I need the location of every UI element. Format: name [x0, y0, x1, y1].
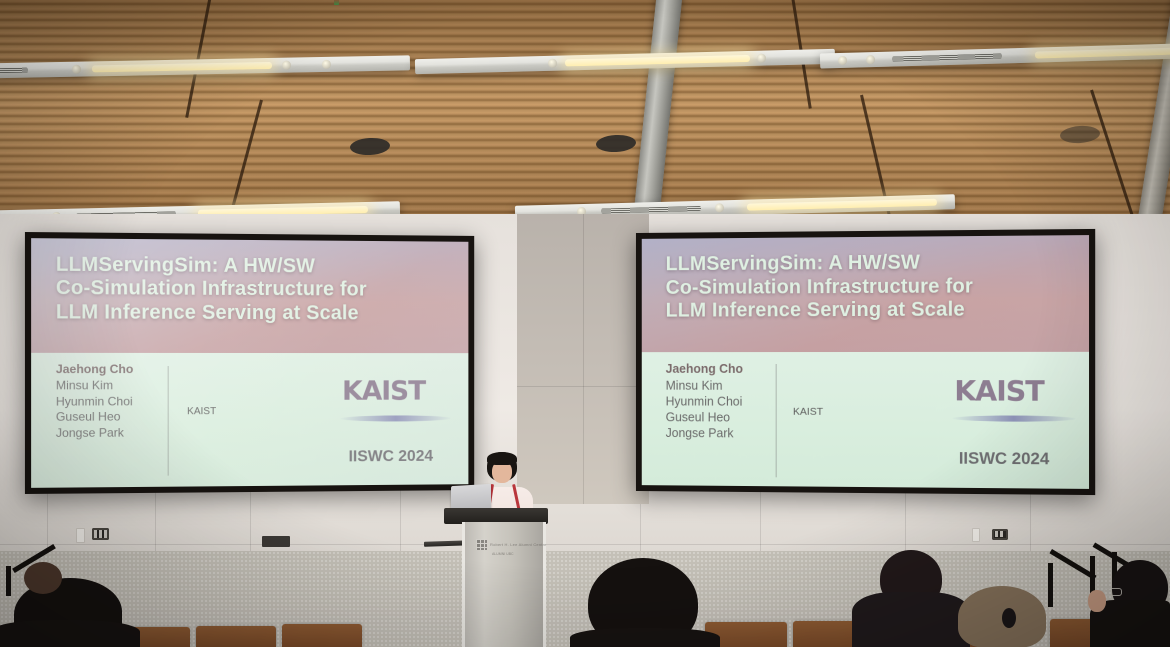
- lectern-logo-text: Robert H. Lee Alumni Centre: [490, 542, 547, 547]
- left-screen[interactable]: LLMServingSim: A HW/SW Co-Simulation Inf…: [25, 232, 474, 494]
- slide-header-right: LLMServingSim: A HW/SW Co-Simulation Inf…: [642, 235, 1089, 352]
- downlight: [72, 65, 81, 74]
- wall-plate[interactable]: [972, 528, 980, 542]
- venue-label-right: IISWC 2024: [959, 450, 1050, 470]
- kaist-logo-swoosh-right: [952, 416, 1075, 423]
- chair: [196, 626, 276, 647]
- ubc-crest-icon: [476, 539, 487, 550]
- downlight: [548, 59, 557, 68]
- affiliation-right: KAIST: [793, 406, 823, 418]
- air-grille: [601, 206, 701, 214]
- slide-body-right: Jaehong Cho Minsu Kim Hyunmin Choi Guseu…: [642, 352, 1089, 489]
- lectern-logo-sub: ALUMNI UBC: [492, 552, 514, 556]
- kaist-logo-right: KAIST: [954, 374, 1044, 407]
- author: Guseul Heo: [666, 410, 743, 426]
- title-line-2: Co-Simulation Infrastructure for: [56, 277, 452, 303]
- ceiling-indicator: [334, 0, 339, 5]
- left-screen-surface: LLMServingSim: A HW/SW Co-Simulation Inf…: [31, 238, 468, 488]
- light-glow: [1035, 47, 1170, 59]
- author: Hyunmin Choi: [666, 394, 743, 410]
- author-list-left: Jaehong Cho Minsu Kim Hyunmin Choi Guseu…: [56, 362, 134, 441]
- title-line-3: LLM Inference Serving at Scale: [666, 298, 1071, 323]
- light-switch-panel[interactable]: [992, 529, 1008, 540]
- author: Jongse Park: [56, 425, 134, 441]
- downlight: [322, 60, 331, 69]
- wall-plate[interactable]: [76, 528, 85, 543]
- wooden-slat-ceiling: [0, 0, 1170, 240]
- switch-toggle: [1000, 531, 1003, 537]
- stair-handrail-post: [1048, 563, 1053, 607]
- eyeglasses-icon: [1104, 588, 1122, 596]
- slide-title-left: LLMServingSim: A HW/SW Co-Simulation Inf…: [56, 253, 452, 326]
- wall-plate: [262, 536, 290, 547]
- switch-toggle: [104, 530, 107, 538]
- title-line-3: LLM Inference Serving at Scale: [56, 301, 452, 326]
- center-wall-seam: [583, 214, 584, 504]
- downlight: [757, 54, 766, 63]
- author: Guseul Heo: [56, 410, 134, 426]
- right-screen[interactable]: LLMServingSim: A HW/SW Co-Simulation Inf…: [636, 229, 1095, 495]
- author: Jongse Park: [666, 426, 743, 442]
- slide-title-right: LLMServingSim: A HW/SW Co-Simulation Inf…: [666, 250, 1071, 323]
- chair: [282, 624, 362, 647]
- downlight: [838, 56, 847, 65]
- audience-shoulders: [852, 592, 970, 647]
- author-divider-left: [167, 366, 168, 476]
- air-grille: [892, 54, 1002, 62]
- center-wall-seam: [517, 386, 649, 387]
- slide-right: LLMServingSim: A HW/SW Co-Simulation Inf…: [642, 235, 1089, 489]
- kaist-logo-left: KAIST: [342, 376, 425, 407]
- audience-shoulders: [0, 620, 140, 647]
- author-lead: Jaehong Cho: [666, 361, 743, 377]
- author: Minsu Kim: [666, 377, 743, 393]
- presenter-fringe: [487, 452, 517, 465]
- light-glow: [92, 62, 272, 72]
- switch-toggle: [995, 531, 998, 537]
- audience-shoulders: [570, 628, 720, 647]
- title-line-1: LLMServingSim: A HW/SW: [666, 250, 1071, 276]
- audience-head: [24, 562, 62, 594]
- downlight: [715, 203, 724, 212]
- downlight: [866, 55, 875, 64]
- slide-header-left: LLMServingSim: A HW/SW Co-Simulation Inf…: [31, 238, 468, 353]
- lecture-hall-photo: LLMServingSim: A HW/SW Co-Simulation Inf…: [0, 0, 1170, 647]
- downlight: [282, 61, 291, 70]
- author-list-right: Jaehong Cho Minsu Kim Hyunmin Choi Guseu…: [666, 361, 743, 442]
- author-divider-right: [775, 364, 776, 477]
- slide-body-left: Jaehong Cho Minsu Kim Hyunmin Choi Guseu…: [31, 353, 468, 488]
- light-glow: [747, 199, 937, 211]
- author: Hyunmin Choi: [56, 394, 134, 410]
- slide-left: LLMServingSim: A HW/SW Co-Simulation Inf…: [31, 238, 468, 488]
- light-glow: [565, 55, 750, 67]
- title-line-1: LLMServingSim: A HW/SW: [56, 253, 452, 279]
- stair-handrail-left-post: [6, 566, 11, 596]
- kaist-logo-swoosh-left: [340, 415, 451, 421]
- wall-band-seam: [0, 544, 1170, 545]
- title-line-2: Co-Simulation Infrastructure for: [666, 274, 1071, 300]
- headphone-earcup-icon: [1002, 608, 1016, 628]
- audience-hand: [1088, 590, 1106, 612]
- affiliation-left: KAIST: [187, 406, 216, 417]
- author: Minsu Kim: [56, 378, 134, 394]
- right-screen-surface: LLMServingSim: A HW/SW Co-Simulation Inf…: [642, 235, 1089, 489]
- author-lead: Jaehong Cho: [56, 362, 134, 378]
- switch-toggle: [94, 530, 97, 538]
- light-switch-panel[interactable]: [92, 528, 109, 540]
- air-grille: [0, 68, 28, 75]
- venue-label-left: IISWC 2024: [349, 448, 433, 466]
- switch-toggle: [99, 530, 102, 538]
